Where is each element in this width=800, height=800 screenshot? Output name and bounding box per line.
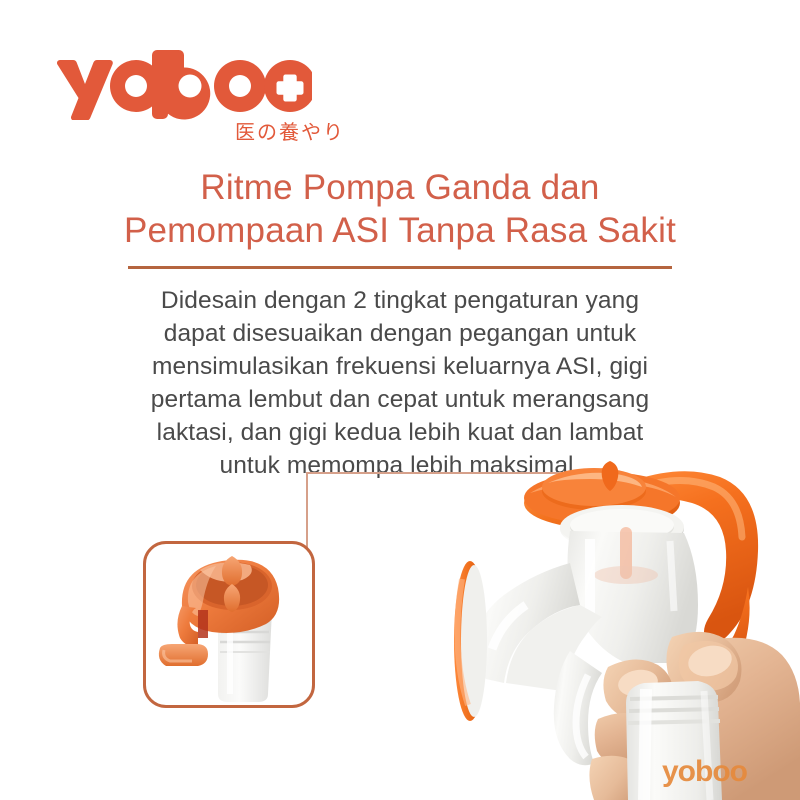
product-marketing-image: 医の養やり Ritme Pompa Ganda dan Pemompaan AS… (0, 0, 800, 800)
valve-detail-callout (143, 541, 315, 708)
body-line-5: laktasi, dan gigi kedua lebih kuat dan l… (110, 416, 690, 449)
body-line-2: dapat disesuaikan dengan pegangan untuk (110, 317, 690, 350)
body-line-1: Didesain dengan 2 tingkat pengaturan yan… (110, 284, 690, 317)
svg-text:yoboo: yoboo (662, 755, 748, 788)
yoboo-wordmark (52, 48, 312, 120)
page-title: Ritme Pompa Ganda dan Pemompaan ASI Tanp… (60, 166, 740, 252)
headline-line-2: Pemompaan ASI Tanpa Rasa Sakit (60, 209, 740, 252)
logo-japanese-tagline: 医の養やり (235, 116, 345, 145)
headline-divider (128, 266, 672, 269)
body-line-4: pertama lembut dan cepat untuk merangsan… (110, 383, 690, 416)
bottle-brand-mark: yoboo (662, 755, 748, 788)
body-line-3: mensimulasikan frekuensi keluarnya ASI, … (110, 350, 690, 383)
breast-pump-illustration: yoboo (430, 455, 800, 800)
valve-detail-illustration (146, 544, 312, 705)
body-paragraph: Didesain dengan 2 tingkat pengaturan yan… (110, 284, 690, 482)
brand-logo: 医の養やり (52, 48, 352, 148)
headline-line-1: Ritme Pompa Ganda dan (60, 166, 740, 209)
product-hero-image: yoboo (430, 455, 800, 800)
